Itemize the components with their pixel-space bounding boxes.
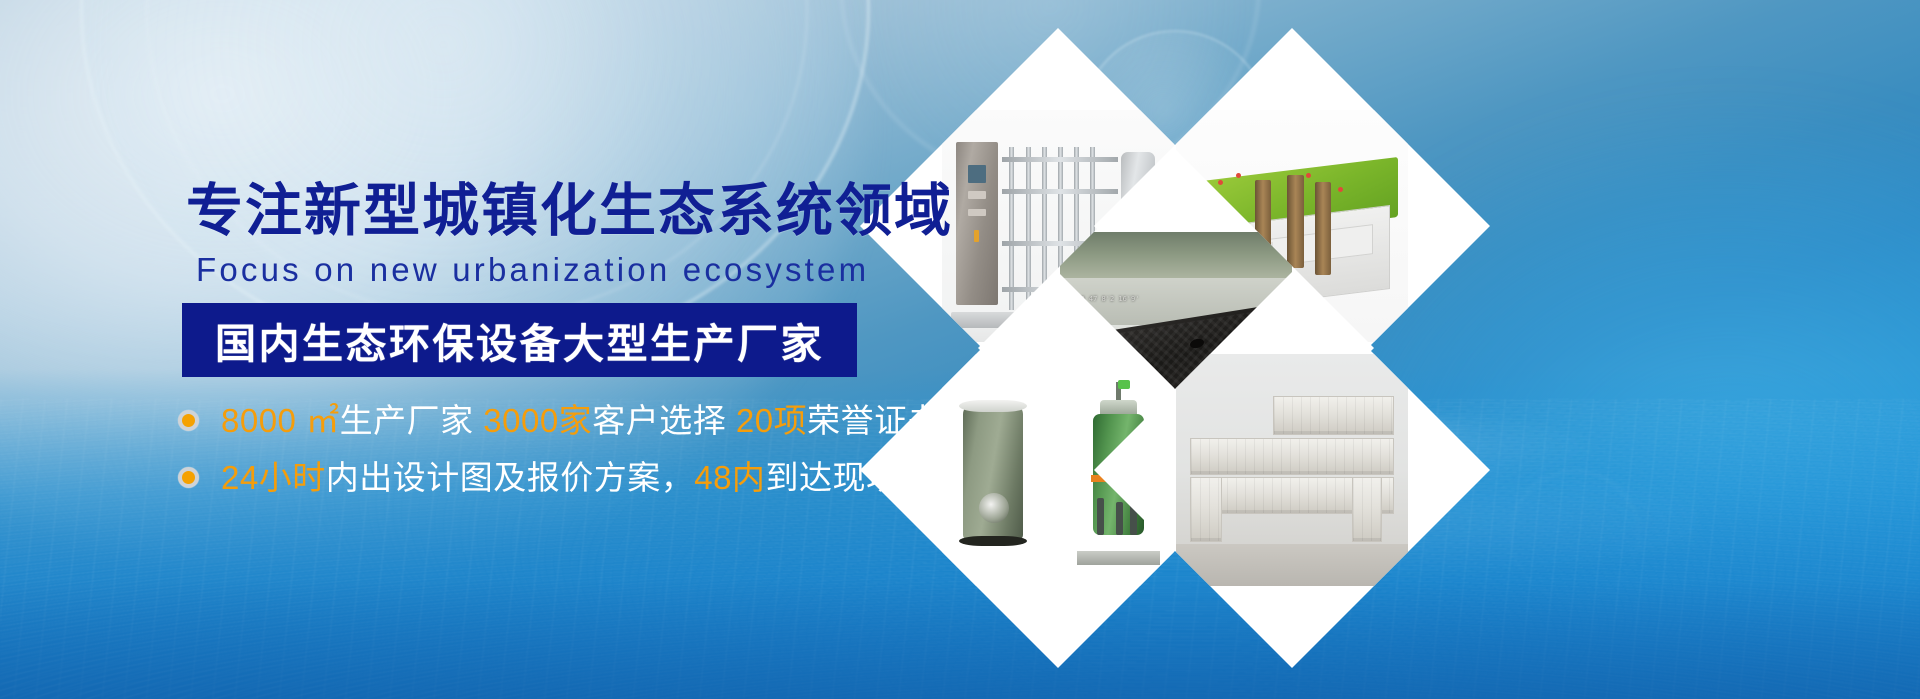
bullet-dot-icon	[178, 467, 199, 488]
list-item: 8000 ㎡生产厂家 3000家客户选择 20项荣誉证书	[178, 398, 941, 443]
plain-text: 到达现场	[765, 459, 899, 496]
photo-stacked-concrete-blocks	[1176, 354, 1408, 586]
highlight-text: 48内	[694, 459, 765, 496]
bullet-text-1: 8000 ㎡生产厂家 3000家客户选择 20项荣誉证书	[221, 404, 941, 437]
diamond-gallery: 39 47 8'2 16'9'	[900, 40, 1920, 660]
headline-chinese: 专注新型城镇化生态系统领域	[186, 183, 953, 240]
list-item: 24小时内出设计图及报价方案，48内到达现场	[178, 455, 941, 500]
highlight-text: 24小时	[221, 459, 326, 496]
feature-bullet-list: 8000 ㎡生产厂家 3000家客户选择 20项荣誉证书 24小时内出设计图及报…	[178, 398, 941, 512]
plain-text: 荣誉证书	[807, 402, 941, 439]
bullet-dot-icon	[178, 410, 199, 431]
plain-text: 生产厂家	[340, 402, 484, 439]
hero-copy: 专注新型城镇化生态系统领域 Focus on new urbanization …	[0, 0, 960, 699]
bullet-text-2: 24小时内出设计图及报价方案，48内到达现场	[221, 461, 899, 494]
plain-text: 内出设计图及报价方案，	[326, 459, 695, 496]
highlight-text: 3000家	[483, 402, 592, 439]
plain-text: 客户选择	[592, 402, 736, 439]
hero-banner: 39 47 8'2 16'9'	[0, 0, 1920, 699]
ribbon-label: 国内生态环保设备大型生产厂家	[215, 310, 824, 370]
highlight-text: 8000 ㎡	[221, 402, 340, 439]
subheadline-english: Focus on new urbanization ecosystem	[196, 253, 869, 286]
ribbon-banner: 国内生态环保设备大型生产厂家	[182, 303, 857, 377]
highlight-text: 20项	[736, 402, 807, 439]
